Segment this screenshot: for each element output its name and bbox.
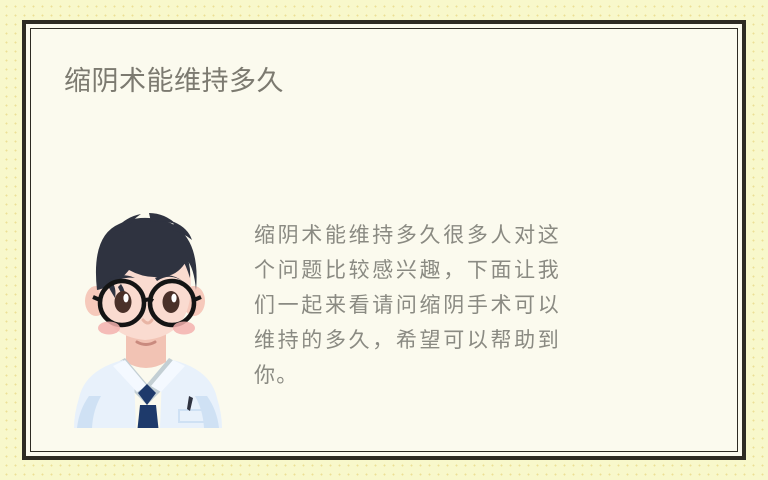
content-row: 缩阴术能维持多久很多人对这个问题比较感兴趣，下面让我们一起来看请问缩阴手术可以维…	[31, 184, 737, 424]
inner-frame: 缩阴术能维持多久	[30, 28, 738, 452]
outer-frame: 缩阴术能维持多久	[22, 20, 746, 460]
body-paragraph: 缩阴术能维持多久很多人对这个问题比较感兴趣，下面让我们一起来看请问缩阴手术可以维…	[254, 218, 560, 393]
doctor-icon	[69, 206, 229, 428]
page-title: 缩阴术能维持多久	[64, 64, 284, 98]
poster-canvas: 缩阴术能维持多久	[0, 0, 768, 480]
doctor-illustration	[69, 206, 229, 428]
